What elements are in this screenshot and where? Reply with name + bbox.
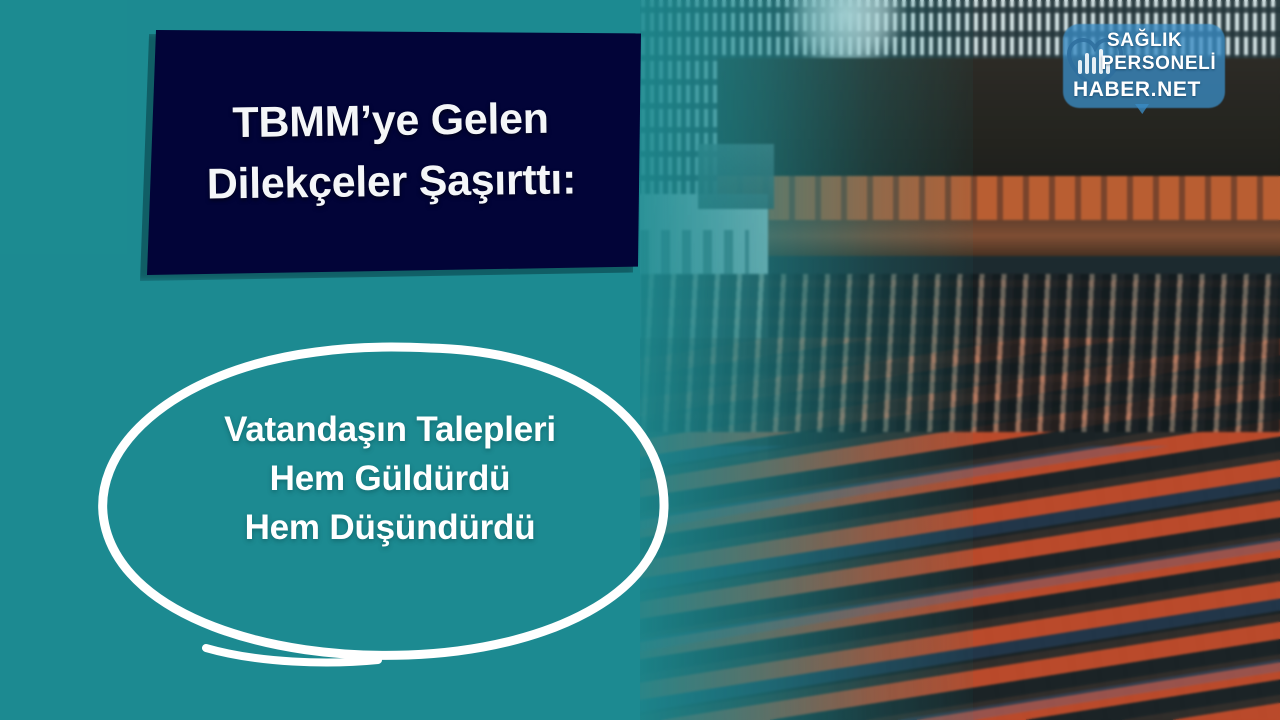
headline-text-block: TBMM’ye Gelen Dilekçeler Şaşırttı: bbox=[140, 87, 642, 216]
news-thumbnail-card: TBMM’ye Gelen Dilekçeler Şaşırttı: Vatan… bbox=[0, 0, 1280, 720]
headline-plaque: TBMM’ye Gelen Dilekçeler Şaşırttı: bbox=[141, 28, 641, 275]
headline-line-2: Dilekçeler Şaşırttı: bbox=[167, 148, 616, 215]
subheadline-line-3: Hem Düşündürdü bbox=[95, 503, 685, 552]
logo-text-line-1: SAĞLIK bbox=[1107, 30, 1182, 52]
subheadline-line-2: Hem Güldürdü bbox=[95, 454, 685, 503]
subheadline-line-1: Vatandaşın Talepleri bbox=[95, 405, 685, 454]
site-watermark-logo[interactable]: SAĞLIK PERSONELİ HABER.NET bbox=[1063, 24, 1225, 108]
headline-line-1: TBMM’ye Gelen bbox=[166, 87, 615, 154]
logo-text-line-3: HABER.NET bbox=[1073, 78, 1201, 102]
logo-text-line-2: PERSONELİ bbox=[1101, 53, 1216, 75]
subheadline-text-block: Vatandaşın Talepleri Hem Güldürdü Hem Dü… bbox=[95, 405, 685, 552]
